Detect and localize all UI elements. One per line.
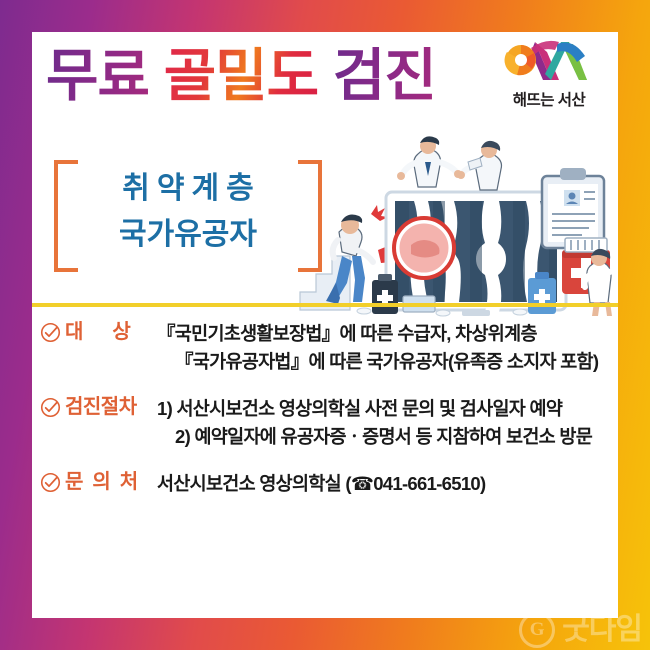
title-part-free: 무료	[46, 44, 149, 108]
page-title: 무료 골밀도 검진	[46, 48, 436, 105]
info-line: 2) 예약일자에 유공자증ㆍ증명서 등 지참하여 보건소 방문	[157, 423, 618, 451]
info-line: 1) 서산시보건소 영상의학실 사전 문의 및 검사일자 예약	[157, 395, 618, 423]
title-part-exam: 검진	[333, 44, 436, 108]
info-lines-target: 『국민기초생활보장법』에 따른 수급자, 차상위계층 『국가유공자법』에 따른 …	[157, 320, 618, 376]
info-lines-procedure: 1) 서산시보건소 영상의학실 사전 문의 및 검사일자 예약 2) 예약일자에…	[157, 395, 618, 451]
check-circle-icon	[40, 397, 61, 418]
info-label-target: 대상	[65, 321, 153, 344]
subtitle-line-veterans: 국가유공자	[88, 220, 288, 250]
info-line: 『국민기초생활보장법』에 따른 수급자, 차상위계층	[157, 320, 618, 348]
doctor-figures-icon	[397, 136, 502, 190]
info-item-procedure: 검진절차 1) 서산시보건소 영상의학실 사전 문의 및 검사일자 예약 2) …	[32, 395, 618, 451]
poster-root: 무료 골밀도 검진	[0, 0, 650, 650]
info-line: 『국가유공자법』에 따른 국가유공자(유족증 소지자 포함)	[157, 348, 618, 376]
section-divider	[32, 303, 618, 307]
info-label-contact: 문의처	[65, 471, 153, 494]
check-circle-icon	[40, 322, 61, 343]
info-item-contact: 문의처 서산시보건소 영상의학실 (☎041-661-6510)	[32, 470, 618, 498]
medical-illustration	[294, 132, 618, 318]
target-group-bracket: 취약계층 국가유공자	[54, 154, 322, 272]
info-label-procedure: 검진절차	[65, 396, 153, 419]
city-logo-text: 해뜨는 서산	[494, 88, 604, 110]
city-logo: 해뜨는 서산	[494, 36, 604, 110]
title-part-bone-density: 골밀도	[164, 44, 318, 108]
subtitle-line-vulnerable: 취약계층	[88, 174, 288, 204]
contact-phone-line: 서산시보건소 영상의학실 (☎041-661-6510)	[157, 470, 618, 498]
seosan-emblem-icon	[501, 36, 597, 86]
poster-white-card: 무료 골밀도 검진	[32, 32, 618, 618]
info-lines-contact: 서산시보건소 영상의학실 (☎041-661-6510)	[157, 470, 618, 498]
info-list: 대상 『국민기초생활보장법』에 따른 수급자, 차상위계층 『국가유공자법』에 …	[32, 320, 618, 518]
check-circle-icon	[40, 472, 61, 493]
info-item-target: 대상 『국민기초생활보장법』에 따른 수급자, 차상위계층 『국가유공자법』에 …	[32, 320, 618, 376]
clipboard-icon	[542, 168, 604, 248]
bracket-left-icon	[54, 160, 78, 272]
bone-density-scene-icon	[294, 132, 618, 318]
watermark-text: 굿다임	[562, 615, 642, 645]
